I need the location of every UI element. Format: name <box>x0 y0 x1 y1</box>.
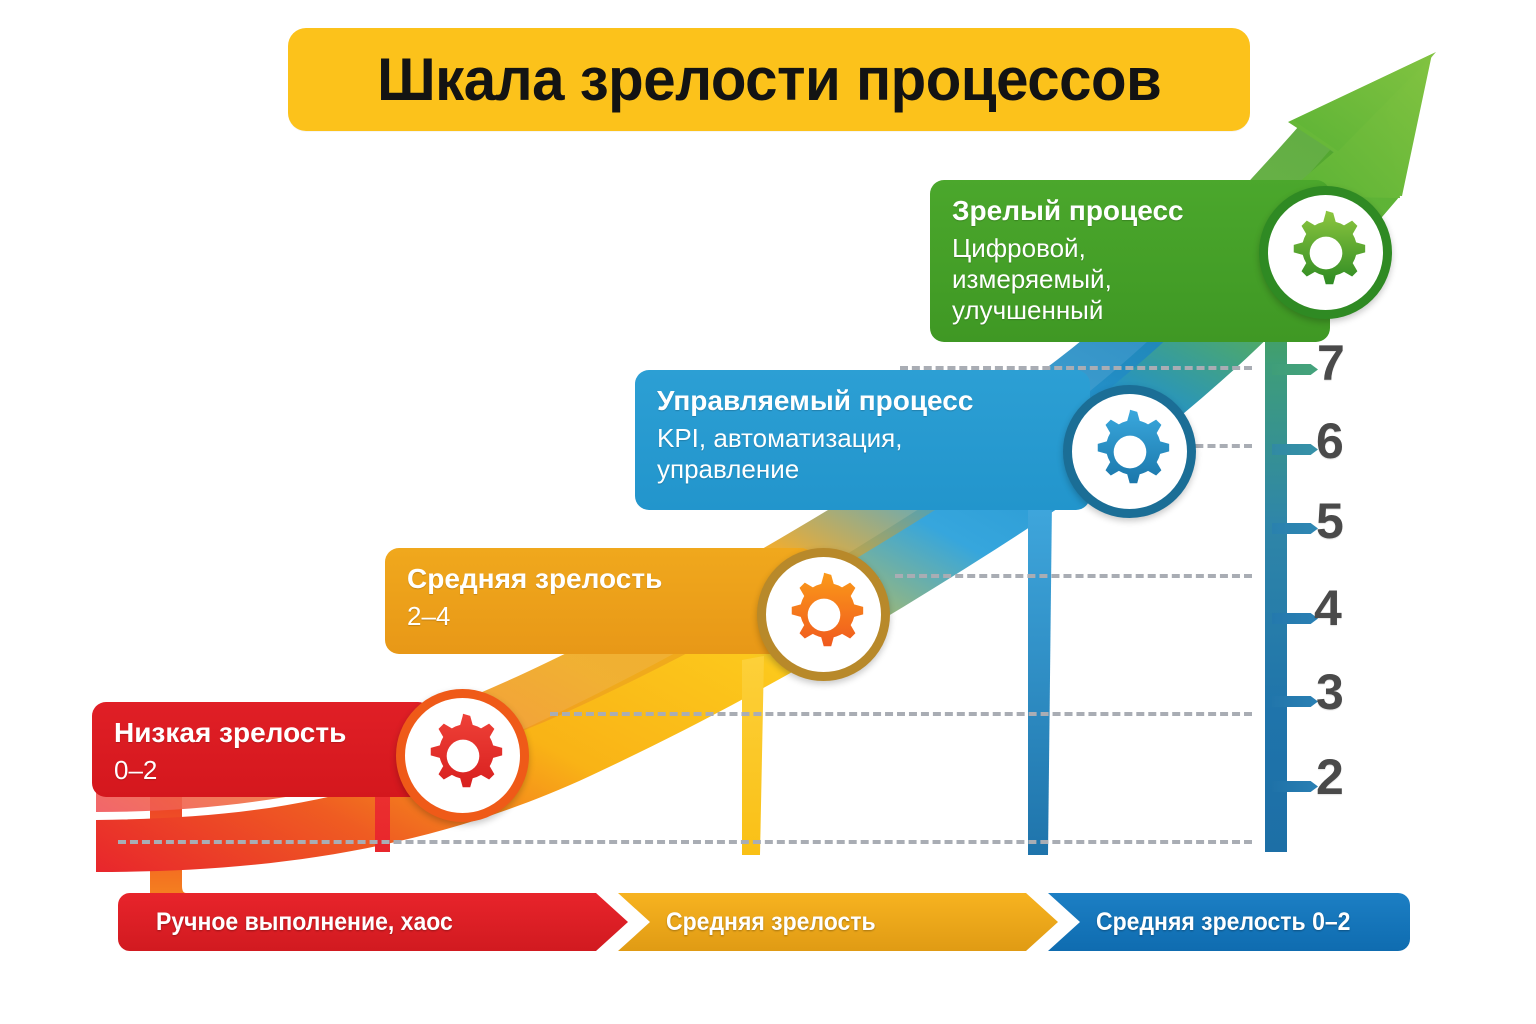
stage-card-subtitle: Цифровой, измеряемый, улучшенный <box>952 233 1308 327</box>
gear-icon <box>396 689 529 822</box>
axis-tick-4 <box>1272 613 1318 624</box>
legend-segment-label: Средняя зрелость <box>666 908 876 937</box>
axis-label-2: 2 <box>1316 752 1344 802</box>
legend-segment-label: Средняя зрелость 0–2 <box>1096 908 1350 937</box>
page-title: Шкала зрелости процессов <box>377 45 1161 114</box>
stage-card-title: Средняя зрелость <box>407 562 793 595</box>
axis-tick-6 <box>1272 444 1318 455</box>
axis-label-4: 4 <box>1314 583 1342 633</box>
gridline-5 <box>895 574 1252 578</box>
axis-tick-3 <box>1272 696 1318 707</box>
maturity-ribbon-graphic <box>0 0 1536 1024</box>
axis-label-3: 3 <box>1316 667 1344 717</box>
stage-card-low-maturity[interactable]: Низкая зрелость 0–2 <box>92 702 432 797</box>
axis-label-6: 6 <box>1316 416 1344 466</box>
gear-icon <box>1063 385 1196 518</box>
axis-label-7: 7 <box>1317 338 1345 388</box>
legend-segment-medium-maturity[interactable]: Средняя зрелость <box>618 893 1058 951</box>
legend-segment-label: Ручное выполнение, хаос <box>156 908 453 937</box>
axis-tick-2 <box>1272 781 1318 792</box>
axis-tick-7 <box>1272 364 1318 375</box>
legend-segment-medium-maturity-range[interactable]: Средняя зрелость 0–2 <box>1048 893 1410 951</box>
legend-segment-manual-chaos[interactable]: Ручное выполнение, хаос <box>118 893 628 951</box>
stage-card-subtitle: KPI, автоматизация, управление <box>657 423 1068 485</box>
stage-legend-bar: Ручное выполнение, хаос Средняя зрелость… <box>118 893 1410 951</box>
stage-card-medium-maturity[interactable]: Средняя зрелость 2–4 <box>385 548 815 654</box>
gear-icon <box>757 548 890 681</box>
gridline-3 <box>550 712 1252 716</box>
stage-card-subtitle: 0–2 <box>114 755 410 786</box>
axis-label-5: 5 <box>1316 496 1344 546</box>
page-title-plate: Шкала зрелости процессов <box>288 28 1250 131</box>
stage-card-title: Низкая зрелость <box>114 716 410 749</box>
gridline-baseline <box>118 840 1252 844</box>
stage-card-managed-process[interactable]: Управляемый процесс KPI, автоматизация, … <box>635 370 1090 510</box>
stage-card-title: Управляемый процесс <box>657 384 1068 417</box>
stage-card-subtitle: 2–4 <box>407 601 793 632</box>
axis-tick-5 <box>1272 523 1318 534</box>
stage-card-title: Зрелый процесс <box>952 194 1308 227</box>
maturity-axis-bar <box>1265 300 1287 852</box>
gear-icon <box>1259 186 1392 319</box>
infographic-canvas: 7 6 5 4 3 2 Низкая зрелость 0–2 Средняя … <box>0 0 1536 1024</box>
